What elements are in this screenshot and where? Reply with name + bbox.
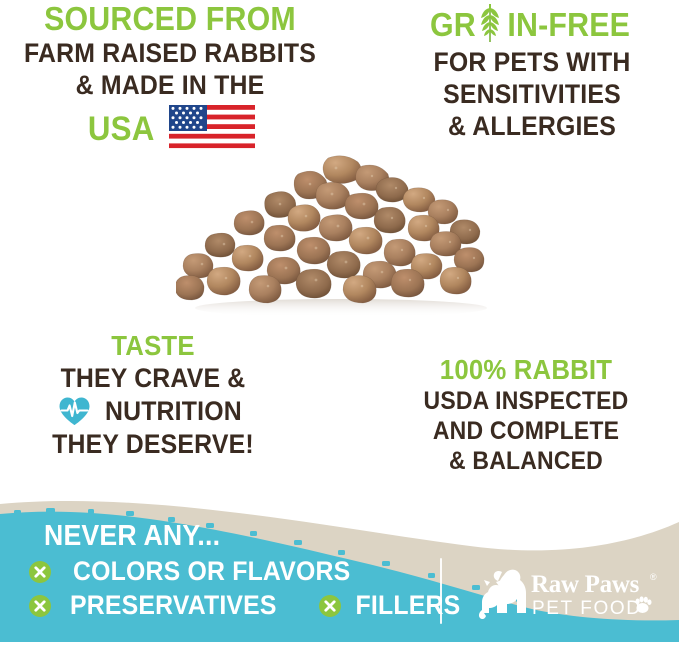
grain-headline-pre: GR [430, 8, 476, 41]
dog-cat-silhouette-icon [479, 570, 526, 619]
x-circle-icon [318, 594, 342, 618]
panel-sourced-from: SOURCED FROM FARM RAISED RABBITS & MADE … [0, 2, 340, 153]
panel-grain-free: GR IN-FREE [392, 4, 672, 140]
panel-taste: TASTE THEY CRAVE & NUTRITION THEY DESERV… [8, 332, 298, 458]
banner-item-colors-or-flavors: COLORS OR FLAVORS [73, 558, 350, 585]
banner-item-preservatives: PRESERVATIVES [70, 592, 277, 619]
taste-headline: TASTE [20, 332, 287, 360]
wheat-stalk-icon [477, 3, 503, 43]
banner-list-item: COLORS OR FLAVORS [28, 558, 428, 585]
never-any-list: NEVER ANY... COLORS OR FLAVORS PRESERVAT… [28, 522, 428, 619]
x-circle-icon [28, 594, 52, 618]
rabbit-headline: 100% RABBIT [390, 356, 662, 384]
logo-tagline: PET FOOD [532, 598, 642, 619]
logo-divider [440, 558, 442, 624]
grain-line-1: FOR PETS WITH [403, 49, 661, 76]
taste-line-2: NUTRITION [105, 398, 242, 425]
x-circle-icon [28, 560, 52, 584]
usa-flag-icon [169, 105, 255, 153]
rabbit-line-2: AND COMPLETE [390, 419, 662, 444]
taste-line-1: THEY CRAVE & [20, 365, 287, 392]
logo-wordmark: Raw Paws [531, 571, 640, 598]
banner-item-fillers: FILLERS [355, 592, 460, 619]
usa-word: USA [88, 112, 155, 146]
sourced-line-1: FARM RAISED RABBITS [14, 40, 327, 67]
freeze-dried-rabbit-food-pile [176, 150, 506, 318]
grain-line-2: SENSITIVITIES [403, 81, 661, 108]
brand-logo: Raw Paws ® PET FOOD [474, 564, 670, 622]
infographic-canvas: SOURCED FROM FARM RAISED RABBITS & MADE … [0, 0, 679, 642]
logo-registered-mark: ® [650, 572, 657, 582]
banner-list-row-2: PRESERVATIVES FILLERS [28, 592, 428, 619]
nutrition-row: NUTRITION [8, 396, 298, 426]
taste-line-3: THEY DESERVE! [20, 431, 287, 458]
panel-rabbit: 100% RABBIT USDA INSPECTED AND COMPLETE … [378, 356, 674, 474]
grain-free-headline: GR IN-FREE [392, 4, 672, 44]
heart-pulse-icon [58, 396, 91, 426]
never-any-title: NEVER ANY... [44, 522, 412, 551]
rabbit-line-1: USDA INSPECTED [390, 389, 662, 414]
grain-headline-post: IN-FREE [508, 8, 631, 41]
usa-flag-row: USA [0, 105, 340, 153]
sourced-line-2: & MADE IN THE [14, 72, 327, 99]
sourced-headline: SOURCED FROM [14, 2, 327, 35]
grain-line-3: & ALLERGIES [403, 113, 661, 140]
